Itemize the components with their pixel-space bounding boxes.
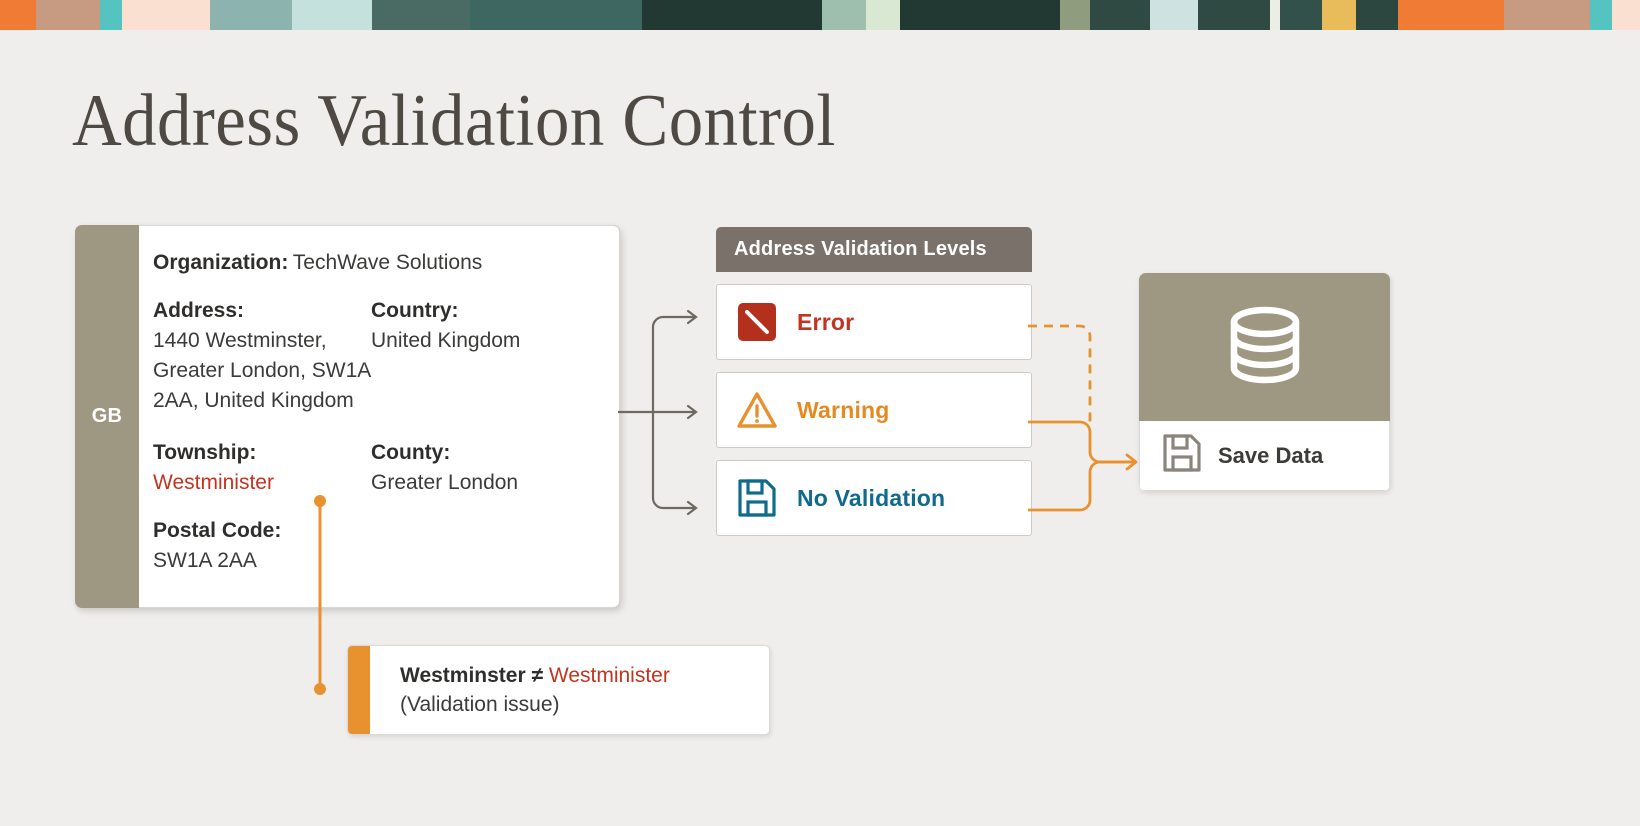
banner-segment-11 — [900, 0, 1060, 30]
floppy-disk-icon — [737, 478, 777, 518]
postal-code-value: SW1A 2AA — [153, 546, 595, 576]
address-card: GB Organization: TechWave Solutions Addr… — [75, 225, 620, 608]
validation-panel-header: Address Validation Levels — [716, 227, 1032, 272]
township-label: Township: — [153, 438, 371, 468]
county-label: County: — [371, 438, 595, 468]
banner-segment-18 — [1322, 0, 1356, 30]
banner-segment-13 — [1090, 0, 1150, 30]
page-title: Address Validation Control — [72, 74, 836, 168]
country-value: United Kingdom — [371, 326, 595, 356]
address-value: 1440 Westminster, Greater London, SW1A 2… — [153, 326, 371, 416]
banner-segment-20 — [1398, 0, 1504, 30]
banner-segment-4 — [210, 0, 292, 30]
address-country-row: Address: 1440 Westminster, Greater Londo… — [153, 296, 595, 416]
address-column: Address: 1440 Westminster, Greater Londo… — [153, 296, 371, 416]
merge-connector — [1028, 312, 1152, 512]
callout-note: (Validation issue) — [400, 690, 769, 720]
banner-segment-6 — [372, 0, 470, 30]
leader-dot-bottom — [314, 683, 326, 695]
save-panel-header — [1139, 273, 1390, 421]
callout-not-equal-symbol: ≠ — [532, 664, 544, 687]
country-column: Country: United Kingdom — [371, 296, 595, 416]
banner-segment-23 — [1612, 0, 1640, 30]
banner-segment-3 — [122, 0, 210, 30]
organization-row: Organization: TechWave Solutions — [153, 248, 595, 278]
validation-level-label: Warning — [797, 397, 890, 424]
callout-leader-line — [313, 494, 327, 696]
no-validation-link — [1028, 462, 1134, 510]
banner-segment-5 — [292, 0, 372, 30]
banner-segment-1 — [36, 0, 100, 30]
address-card-body: Organization: TechWave Solutions Address… — [139, 225, 620, 608]
banner-segment-7 — [470, 0, 642, 30]
error-slash-icon — [737, 302, 777, 342]
floppy-disk-icon — [1162, 433, 1202, 478]
organization-value: TechWave Solutions — [293, 251, 482, 274]
township-column: Township: Westminister — [153, 438, 371, 498]
validation-level-label: Error — [797, 309, 854, 336]
banner-segment-17 — [1280, 0, 1322, 30]
country-code-label: GB — [92, 405, 123, 428]
callout-expected-value: Westminster — [400, 664, 526, 687]
banner-segment-10 — [866, 0, 900, 30]
validation-level-label: No Validation — [797, 485, 945, 512]
validation-level-warning[interactable]: Warning — [716, 372, 1032, 448]
township-value: Westminister — [153, 468, 371, 498]
callout-accent-stripe — [348, 646, 370, 734]
county-value: Greater London — [371, 468, 595, 498]
banner-segment-22 — [1590, 0, 1612, 30]
leader-dot-top — [314, 495, 326, 507]
banner-segment-16 — [1270, 0, 1280, 30]
decorative-top-banner — [0, 0, 1640, 30]
banner-segment-0 — [0, 0, 36, 30]
address-label: Address: — [153, 296, 371, 326]
save-data-label: Save Data — [1218, 443, 1323, 469]
save-panel-footer[interactable]: Save Data — [1139, 421, 1390, 491]
country-label: Country: — [371, 296, 595, 326]
banner-segment-19 — [1356, 0, 1398, 30]
save-data-panel[interactable]: Save Data — [1139, 273, 1390, 491]
validation-level-error[interactable]: Error — [716, 284, 1032, 360]
warning-triangle-icon — [737, 390, 777, 430]
organization-label: Organization: — [153, 251, 288, 274]
banner-segment-9 — [822, 0, 866, 30]
banner-segment-15 — [1198, 0, 1270, 30]
callout-comparison: Westminster ≠ Westminister — [400, 662, 769, 690]
county-column: County: Greater London — [371, 438, 595, 498]
validation-issue-callout: Westminster ≠ Westminister (Validation i… — [347, 645, 770, 735]
validation-levels-panel: Address Validation Levels Error Warning — [716, 227, 1032, 536]
postal-code-row: Postal Code: SW1A 2AA — [153, 516, 595, 576]
database-icon — [1222, 302, 1308, 393]
postal-code-label: Postal Code: — [153, 516, 595, 546]
banner-divider — [0, 30, 1640, 32]
township-county-row: Township: Westminister County: Greater L… — [153, 438, 595, 498]
banner-segment-2 — [100, 0, 122, 30]
callout-actual-value: Westminister — [549, 664, 670, 687]
country-stripe: GB — [75, 225, 139, 608]
validation-level-no-validation[interactable]: No Validation — [716, 460, 1032, 536]
branch-connector — [618, 305, 718, 520]
banner-segment-12 — [1060, 0, 1090, 30]
warning-link — [1028, 422, 1134, 462]
banner-segment-14 — [1150, 0, 1198, 30]
error-link — [1028, 326, 1090, 422]
banner-segment-21 — [1504, 0, 1590, 30]
banner-segment-8 — [642, 0, 822, 30]
callout-text: Westminster ≠ Westminister (Validation i… — [370, 646, 769, 734]
